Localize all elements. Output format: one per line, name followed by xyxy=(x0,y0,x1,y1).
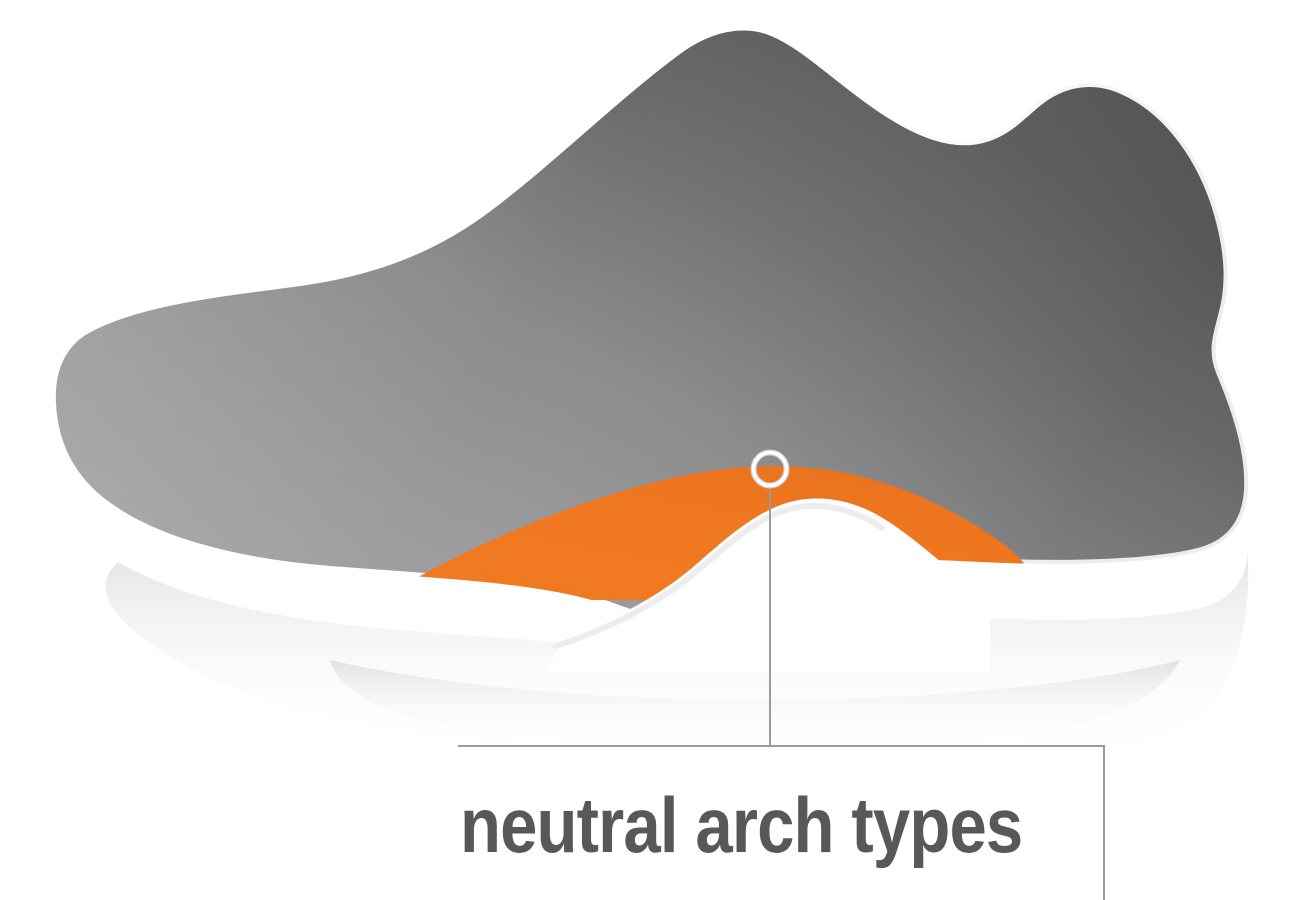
caption-label: neutral arch types xyxy=(460,782,976,868)
shoe-illustration-svg xyxy=(0,0,1296,900)
illustration-canvas: neutral arch types xyxy=(0,0,1296,900)
